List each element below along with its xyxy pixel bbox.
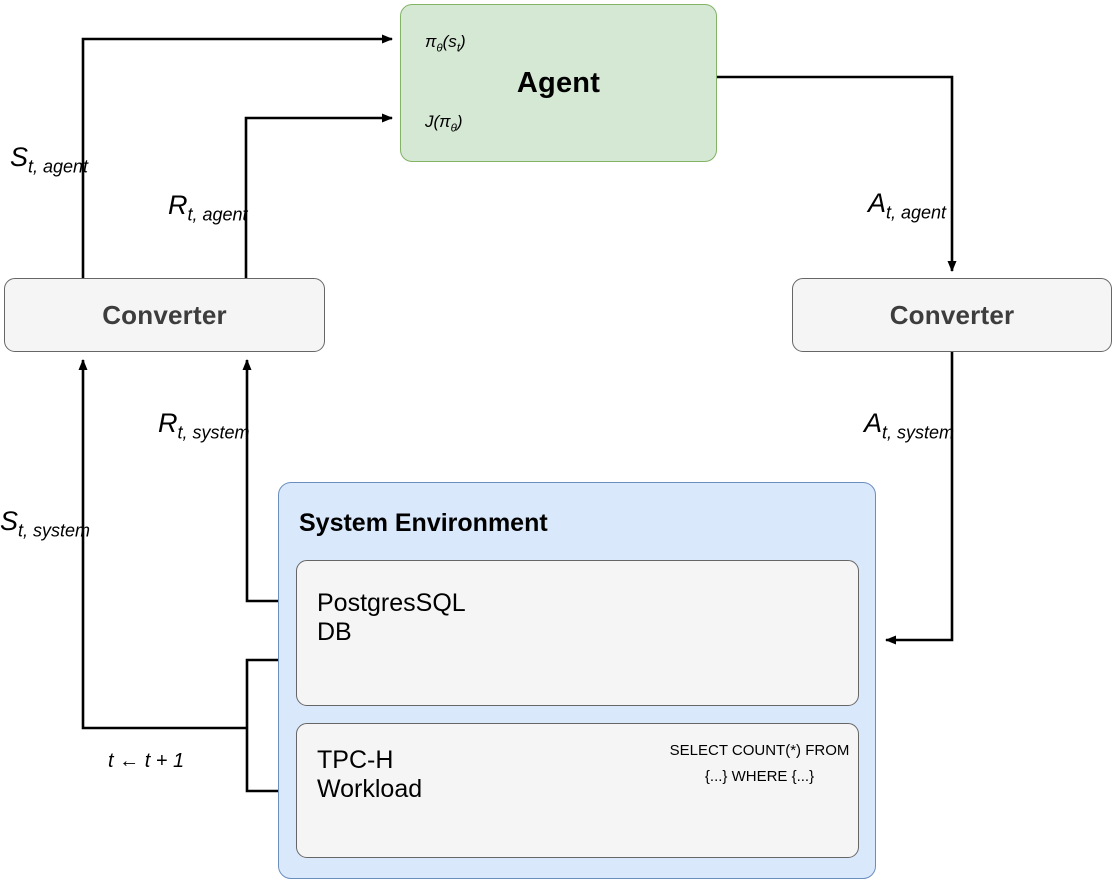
converter-right-label: Converter	[890, 300, 1015, 331]
converter-left-label: Converter	[102, 300, 227, 331]
sql-query-text: SELECT COUNT(*) FROM {...} WHERE {...}	[652, 738, 867, 791]
edge-label-state-system: St, system	[0, 506, 90, 541]
postgres-db-label: PostgresSQL DB	[317, 589, 466, 647]
edge-label-reward-system: Rt, system	[158, 408, 250, 443]
tpch-workload-label: TPC-H Workload	[317, 746, 422, 804]
agent-box[interactable]: Agent πθ(st) J(πθ)	[400, 4, 717, 162]
converter-left[interactable]: Converter	[4, 278, 325, 352]
system-environment-title: System Environment	[299, 509, 548, 538]
tpch-workload-box[interactable]: TPC-H Workload SELECT COUNT(*) FROM {...…	[296, 723, 859, 858]
objective-formula: J(πθ)	[425, 112, 462, 134]
edge-label-state-agent: St, agent	[10, 142, 88, 177]
edge-label-timestep: t ← t + 1	[108, 750, 184, 773]
converter-right[interactable]: Converter	[792, 278, 1112, 352]
edge-label-action-agent: At, agent	[868, 188, 946, 223]
edge-label-reward-agent: Rt, agent	[168, 190, 248, 225]
diagram-canvas: Agent πθ(st) J(πθ) Converter Converter S…	[0, 0, 1113, 883]
policy-formula: πθ(st)	[425, 32, 466, 54]
system-environment-box[interactable]: System Environment PostgresSQL DB TPC-H …	[278, 482, 876, 879]
postgres-db-box[interactable]: PostgresSQL DB	[296, 560, 859, 706]
edge-label-action-system: At, system	[864, 408, 954, 443]
agent-title: Agent	[401, 67, 716, 100]
